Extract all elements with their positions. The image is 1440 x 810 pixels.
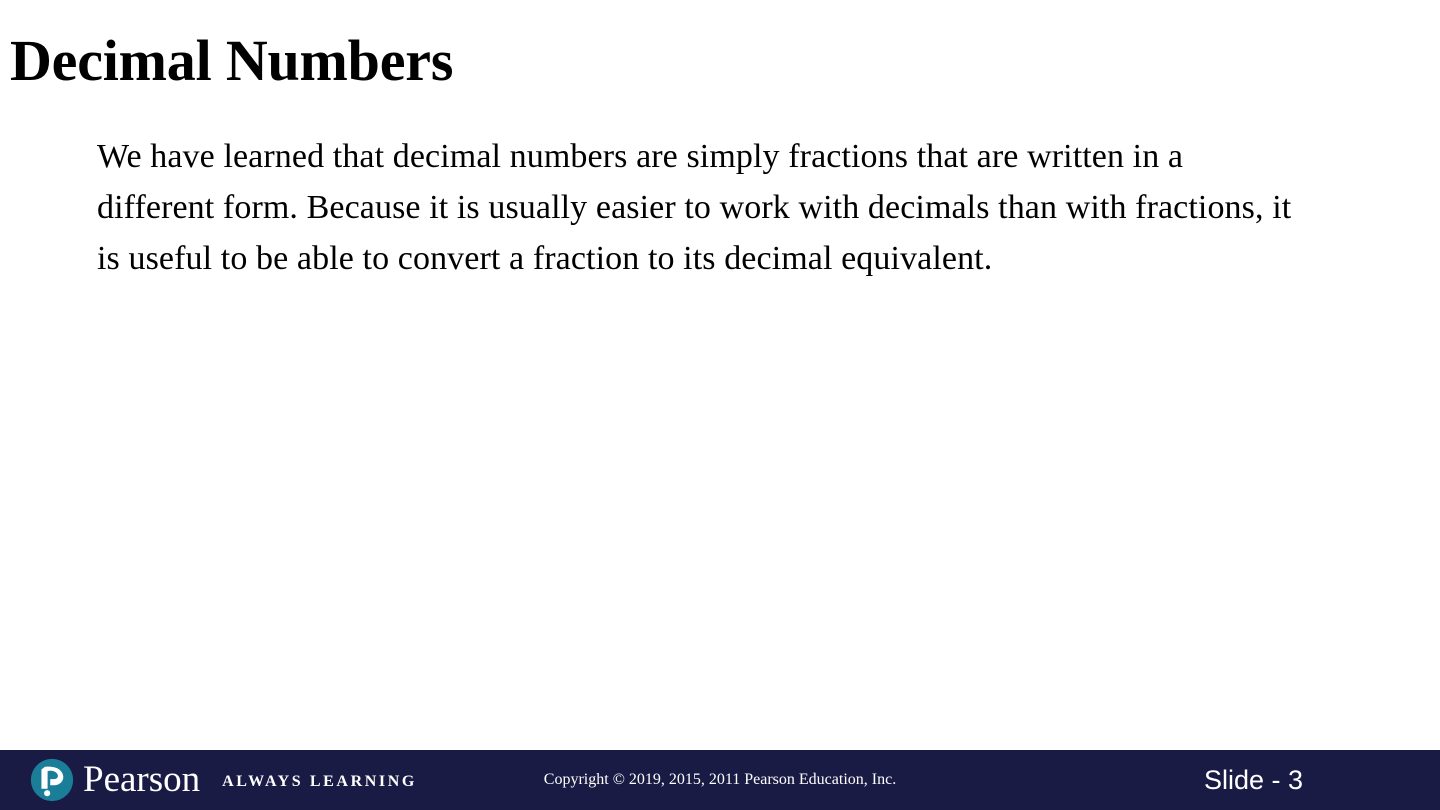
slide-canvas: Decimal Numbers We have learned that dec… bbox=[0, 0, 1440, 810]
slide-content-area: We have learned that decimal numbers are… bbox=[97, 131, 1307, 284]
footer-inner: Pearson ALWAYS LEARNING Copyright © 2019… bbox=[0, 750, 1440, 810]
pearson-branding: Pearson ALWAYS LEARNING bbox=[30, 750, 417, 810]
pearson-logo-icon bbox=[30, 758, 74, 802]
slide-number: Slide - 3 bbox=[1204, 750, 1303, 810]
body-paragraph: We have learned that decimal numbers are… bbox=[97, 131, 1307, 284]
pearson-wordmark: Pearson bbox=[83, 760, 200, 800]
pearson-tagline: ALWAYS LEARNING bbox=[222, 773, 417, 791]
page-title: Decimal Numbers bbox=[10, 26, 1390, 96]
slide-footer: Pearson ALWAYS LEARNING Copyright © 2019… bbox=[0, 750, 1440, 810]
